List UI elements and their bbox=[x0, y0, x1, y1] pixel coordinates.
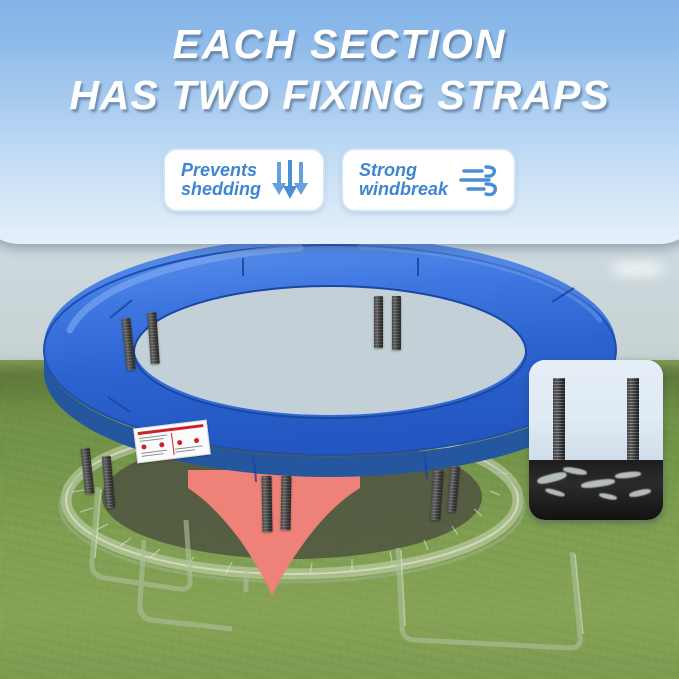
fixing-strap bbox=[281, 476, 292, 530]
infographic-canvas: EACH SECTION HAS TWO FIXING STRAPS Preve… bbox=[0, 0, 679, 679]
closeup-strap bbox=[553, 378, 565, 466]
triple-down-arrow-icon bbox=[271, 159, 309, 201]
wind-icon bbox=[458, 163, 500, 197]
badge-label: Strong windbreak bbox=[359, 161, 448, 200]
closeup-mat bbox=[529, 460, 663, 520]
title-line-1: EACH SECTION bbox=[0, 0, 679, 65]
closeup-pad-surface bbox=[529, 360, 663, 464]
header-panel: EACH SECTION HAS TWO FIXING STRAPS Preve… bbox=[0, 0, 679, 244]
fixing-strap bbox=[392, 296, 401, 350]
strap-closeup-photo bbox=[529, 360, 663, 520]
fixing-strap bbox=[374, 296, 383, 348]
fixing-strap bbox=[262, 476, 273, 532]
badge-strong-windbreak[interactable]: Strong windbreak bbox=[341, 148, 516, 212]
title-line-2: HAS TWO FIXING STRAPS bbox=[0, 65, 679, 116]
feature-badges: Prevents shedding Strong windbreak bbox=[0, 148, 679, 212]
badge-prevents-shedding[interactable]: Prevents shedding bbox=[163, 148, 325, 212]
page-title: EACH SECTION HAS TWO FIXING STRAPS bbox=[0, 0, 679, 116]
closeup-strap bbox=[627, 378, 639, 466]
badge-label: Prevents shedding bbox=[181, 161, 261, 200]
